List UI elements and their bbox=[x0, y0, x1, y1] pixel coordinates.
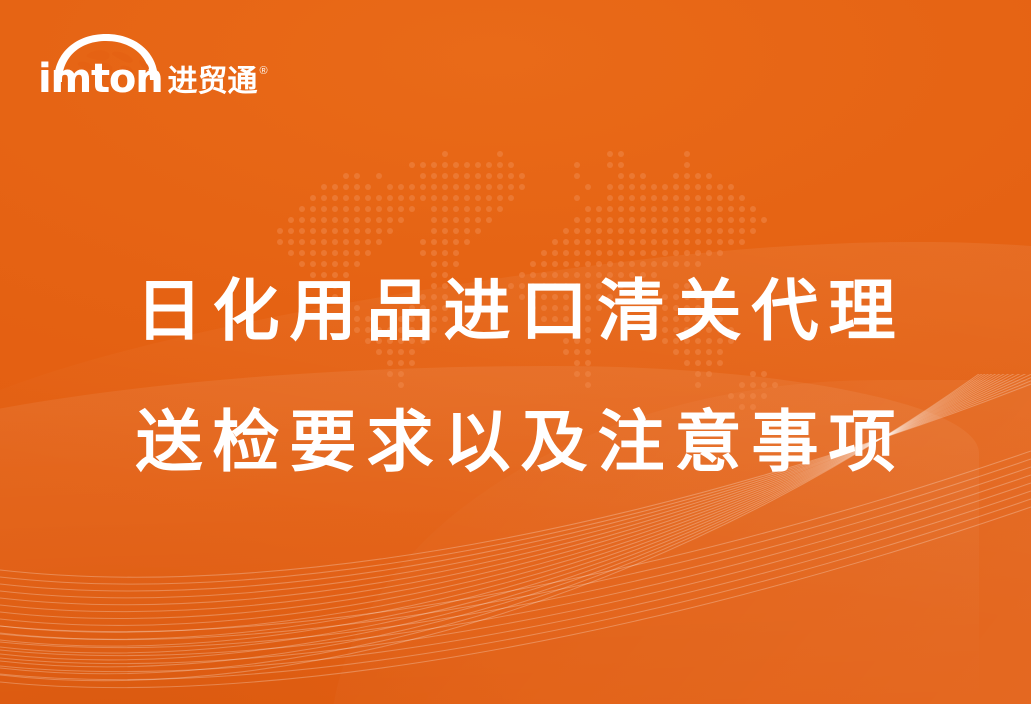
headline-block: 日化用品进口清关代理 送检要求以及注意事项 bbox=[0, 246, 1031, 508]
banner-poster: imton 进贸通 ® 日化用品进口清关代理 送检要求以及注意事项 bbox=[0, 0, 1031, 704]
logo-wordmark: imton 进贸通 ® bbox=[38, 57, 268, 99]
registered-mark-icon: ® bbox=[259, 66, 267, 77]
headline-line-2: 送检要求以及注意事项 bbox=[0, 377, 1031, 508]
logo-latin-text: imton bbox=[38, 59, 162, 99]
headline-line-1: 日化用品进口清关代理 bbox=[0, 246, 1031, 377]
logo[interactable]: imton 进贸通 ® bbox=[38, 30, 268, 102]
logo-cjk-text: 进贸通 bbox=[167, 67, 257, 97]
